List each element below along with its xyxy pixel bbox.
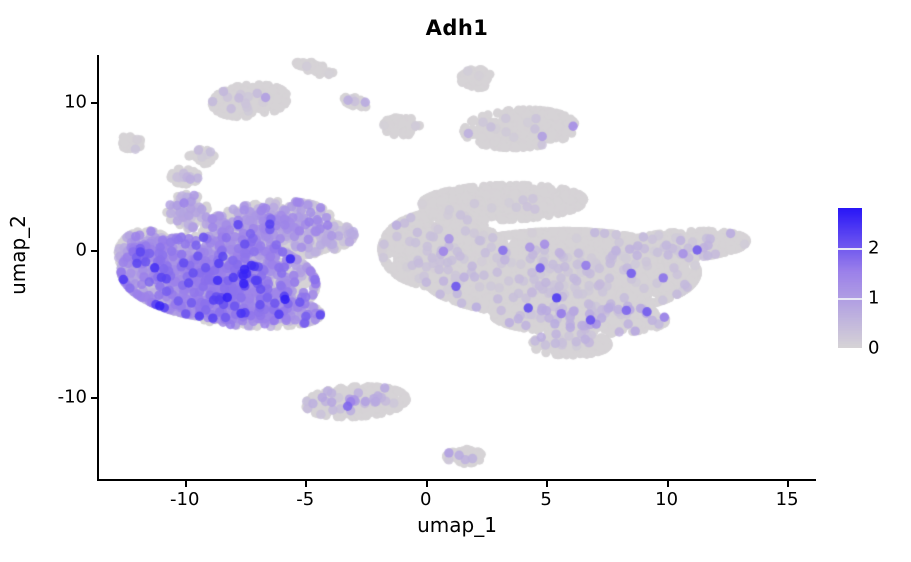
x-tick-mark bbox=[667, 481, 669, 487]
scatter-plot-area bbox=[98, 55, 816, 480]
umap-figure: Adh1 -10-5051015 -10010 umap_1 umap_2 01… bbox=[0, 0, 911, 562]
x-axis-label: umap_1 bbox=[98, 513, 816, 537]
page-title: Adh1 bbox=[98, 16, 816, 40]
x-tick-mark bbox=[305, 481, 307, 487]
scatter-points-canvas bbox=[98, 55, 816, 480]
y-tick-mark bbox=[91, 250, 97, 252]
colorbar-tick-mark bbox=[838, 248, 862, 250]
x-tick-mark bbox=[426, 481, 428, 487]
y-tick-label: 0 bbox=[76, 239, 87, 260]
x-tick-mark bbox=[787, 481, 789, 487]
colorbar-gradient bbox=[838, 208, 862, 348]
x-tick-label: 10 bbox=[655, 489, 678, 510]
colorbar-tick-label: 2 bbox=[868, 238, 879, 259]
y-tick-mark bbox=[91, 102, 97, 104]
y-axis-label: umap_2 bbox=[6, 155, 30, 355]
x-tick-label: 5 bbox=[540, 489, 551, 510]
colorbar-tick-mark bbox=[838, 298, 862, 300]
y-tick-mark bbox=[91, 397, 97, 399]
x-axis-spine bbox=[97, 479, 816, 481]
y-tick-label: -10 bbox=[58, 387, 87, 408]
expression-colorbar bbox=[838, 208, 862, 348]
x-tick-mark bbox=[185, 481, 187, 487]
x-tick-label: -10 bbox=[170, 489, 199, 510]
x-tick-label: 0 bbox=[420, 489, 431, 510]
x-tick-label: -5 bbox=[296, 489, 314, 510]
y-axis-spine bbox=[97, 55, 99, 481]
colorbar-tick-label: 0 bbox=[868, 338, 879, 359]
x-tick-label: 15 bbox=[776, 489, 799, 510]
x-tick-mark bbox=[546, 481, 548, 487]
colorbar-tick-label: 1 bbox=[868, 288, 879, 309]
y-tick-label: 10 bbox=[64, 92, 87, 113]
